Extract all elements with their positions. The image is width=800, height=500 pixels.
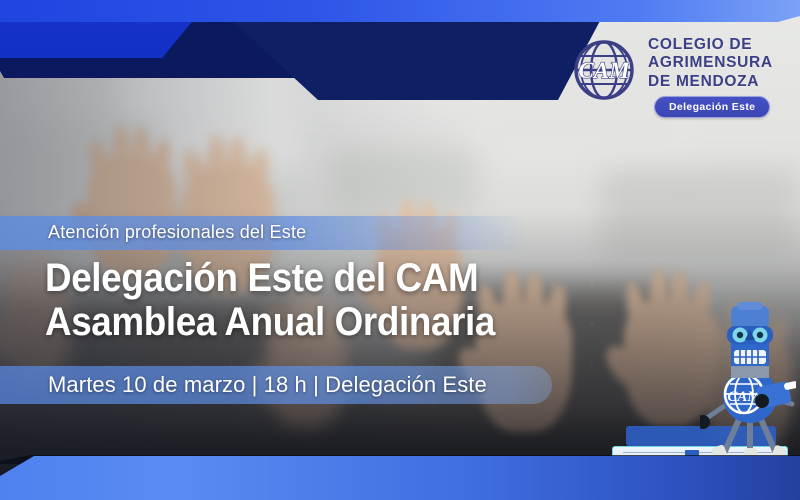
cam-logo[interactable]: CAM COLEGIO DE AGRIMENSURA DE MENDOZA De… xyxy=(572,36,772,136)
delegation-badge: Delegación Este xyxy=(654,96,770,118)
headline-line-1: Delegación Este del CAM xyxy=(45,256,560,300)
banner-canvas: CAM COLEGIO DE AGRIMENSURA DE MENDOZA De… xyxy=(0,0,800,500)
logo-line-1: COLEGIO DE xyxy=(648,36,773,54)
svg-text:CAM: CAM xyxy=(578,58,631,83)
bottom-accent-strip xyxy=(0,456,800,500)
logo-line-2: AGRIMENSURA xyxy=(648,54,773,72)
cam-globe-icon: CAM xyxy=(572,38,636,102)
headline: Delegación Este del CAM Asamblea Anual O… xyxy=(45,256,560,344)
logo-line-3: DE MENDOZA xyxy=(648,73,773,91)
date-text: Martes 10 de marzo | 18 h | Delegación E… xyxy=(48,372,487,398)
top-accent-bar xyxy=(0,0,800,22)
kicker-text: Atención profesionales del Este xyxy=(48,222,306,243)
cam-logo-text: COLEGIO DE AGRIMENSURA DE MENDOZA xyxy=(648,36,773,91)
headline-line-2: Asamblea Anual Ordinaria xyxy=(45,300,560,344)
